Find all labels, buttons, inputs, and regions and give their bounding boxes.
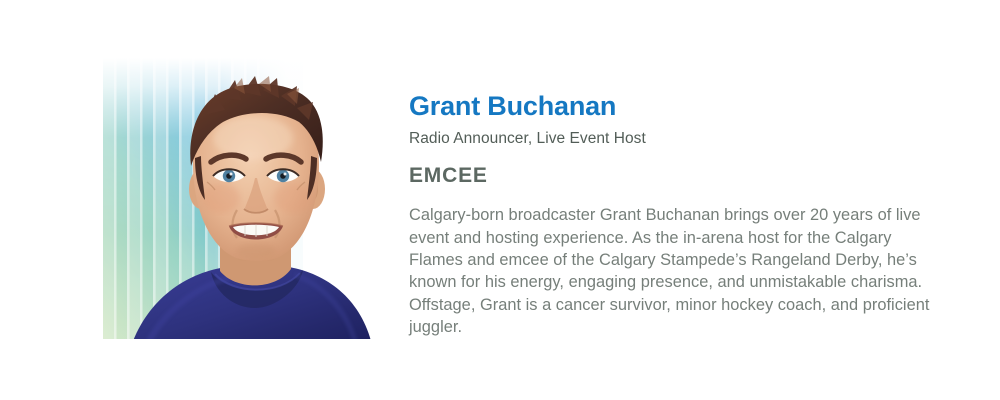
speaker-category-heading: EMCEE	[409, 164, 949, 188]
speaker-name: Grant Buchanan	[409, 92, 949, 122]
speaker-profile-card: Grant Buchanan Radio Announcer, Live Eve…	[0, 0, 1000, 400]
portrait-image	[103, 58, 381, 341]
speaker-role: Radio Announcer, Live Event Host	[409, 129, 949, 148]
speaker-portrait	[103, 58, 381, 341]
speaker-info-column: Grant Buchanan Radio Announcer, Live Eve…	[409, 92, 949, 339]
speaker-bio: Calgary-born broadcaster Grant Buchanan …	[409, 204, 947, 338]
portrait-subject	[103, 58, 381, 341]
